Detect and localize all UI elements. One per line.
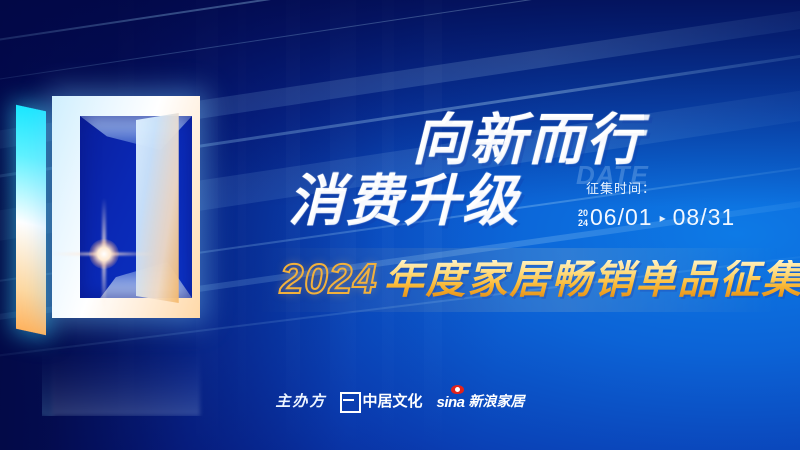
date-label: 征集时间： — [586, 166, 788, 195]
sina-wordmark: sina — [437, 391, 465, 411]
gold-banner: 2024 年度家居畅销单品征集 — [280, 258, 800, 300]
date-year-stack: 20 24 — [578, 209, 588, 228]
sponsor-sina[interactable]: sina 新浪家居 — [437, 391, 525, 411]
sina-latin: sina — [437, 394, 465, 411]
door-side-panel — [16, 105, 46, 335]
headline-line-2: 消费升级 — [288, 173, 520, 229]
gold-year: 2024 — [280, 258, 377, 300]
door-frame — [52, 96, 200, 318]
date-end: 08/31 — [673, 204, 736, 231]
sponsor-bar: 主办方 中居文化 sina 新浪家居 — [0, 390, 800, 411]
date-separator-icon: ▸ — [660, 211, 666, 225]
zhongju-name: 中居文化 — [362, 390, 422, 411]
poster-canvas: 向新而行 消费升级 DATE 征集时间： 20 24 06/01 ▸ 08/31… — [0, 0, 800, 450]
sina-name: 新浪家居 — [469, 391, 525, 411]
glowing-door-portal-icon — [42, 96, 242, 326]
sponsor-zhongju[interactable]: 中居文化 — [340, 390, 422, 411]
gold-subtitle: 年度家居畅销单品征集 — [383, 260, 800, 300]
date-range-row: 20 24 06/01 ▸ 08/31 — [578, 204, 788, 231]
zhongju-logo-icon — [340, 392, 357, 409]
date-block: DATE 征集时间： 20 24 06/01 ▸ 08/31 — [578, 166, 788, 231]
sina-eye-icon — [451, 385, 464, 394]
date-year-bottom: 24 — [578, 219, 588, 228]
date-start: 06/01 — [590, 204, 653, 231]
door-open-leaf — [136, 113, 179, 303]
sponsor-label: 主办方 — [275, 390, 326, 411]
